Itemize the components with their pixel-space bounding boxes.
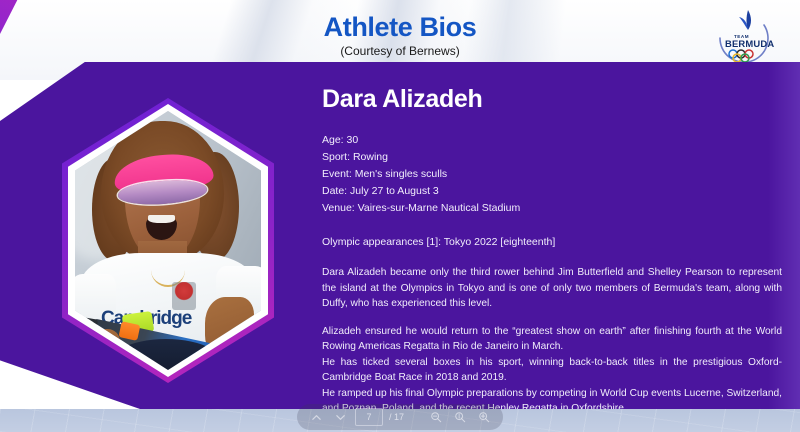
athlete-facts: Age: 30 Sport: Rowing Event: Men's singl… bbox=[322, 132, 782, 217]
chevron-down-icon[interactable] bbox=[329, 407, 351, 427]
fact-age-value: 30 bbox=[347, 134, 359, 146]
page-subtitle: (Courtesy of Bernews) bbox=[0, 44, 800, 58]
fact-age: Age: 30 bbox=[322, 132, 782, 149]
athlete-photo-hexagon: Cambridge bbox=[62, 98, 274, 383]
zoom-in-icon[interactable] bbox=[473, 407, 495, 427]
slide-page: Athlete Bios (Courtesy of Bernews) TEAM … bbox=[0, 0, 800, 409]
svg-text:BERMUDA: BERMUDA bbox=[725, 38, 774, 49]
team-bermuda-logo: TEAM BERMUDA bbox=[708, 8, 782, 66]
fact-sport: Sport: Rowing bbox=[322, 149, 782, 166]
fact-age-label: Age: bbox=[322, 134, 344, 146]
zoom-fit-icon[interactable] bbox=[449, 407, 471, 427]
fact-event-value: Men's singles sculls bbox=[355, 168, 447, 180]
zoom-out-icon[interactable] bbox=[425, 407, 447, 427]
fact-date-label: Date: bbox=[322, 185, 347, 197]
page-title: Athlete Bios bbox=[0, 12, 800, 42]
fact-venue: Venue: Vaires-sur-Marne Nautical Stadium bbox=[322, 200, 782, 217]
fact-sport-value: Rowing bbox=[353, 151, 388, 163]
bio-paragraph-2: Alizadeh ensured he would return to the … bbox=[322, 324, 782, 409]
athlete-bio-content: Dara Alizadeh Age: 30 Sport: Rowing Even… bbox=[322, 86, 782, 409]
total-pages-label: / 17 bbox=[389, 412, 404, 422]
athlete-name: Dara Alizadeh bbox=[322, 86, 782, 114]
fact-venue-value: Vaires-sur-Marne Nautical Stadium bbox=[358, 202, 521, 214]
fact-sport-label: Sport: bbox=[322, 151, 350, 163]
document-viewer: Athlete Bios (Courtesy of Bernews) TEAM … bbox=[0, 0, 800, 432]
pdf-toolbar[interactable]: 7 / 17 bbox=[297, 404, 503, 430]
bio-paragraph-1: Dara Alizadeh became only the third rowe… bbox=[322, 265, 782, 312]
page-number-input[interactable]: 7 bbox=[355, 408, 383, 426]
fact-date-value: July 27 to August 3 bbox=[350, 185, 439, 197]
chevron-up-icon[interactable] bbox=[305, 407, 327, 427]
fact-date: Date: July 27 to August 3 bbox=[322, 183, 782, 200]
fact-event-label: Event: bbox=[322, 168, 352, 180]
header-title-block: Athlete Bios (Courtesy of Bernews) bbox=[0, 12, 800, 58]
olympic-appearances: Olympic appearances [1]: Tokyo 2022 [eig… bbox=[322, 235, 782, 251]
fact-venue-label: Venue: bbox=[322, 202, 355, 214]
fact-event: Event: Men's singles sculls bbox=[322, 166, 782, 183]
